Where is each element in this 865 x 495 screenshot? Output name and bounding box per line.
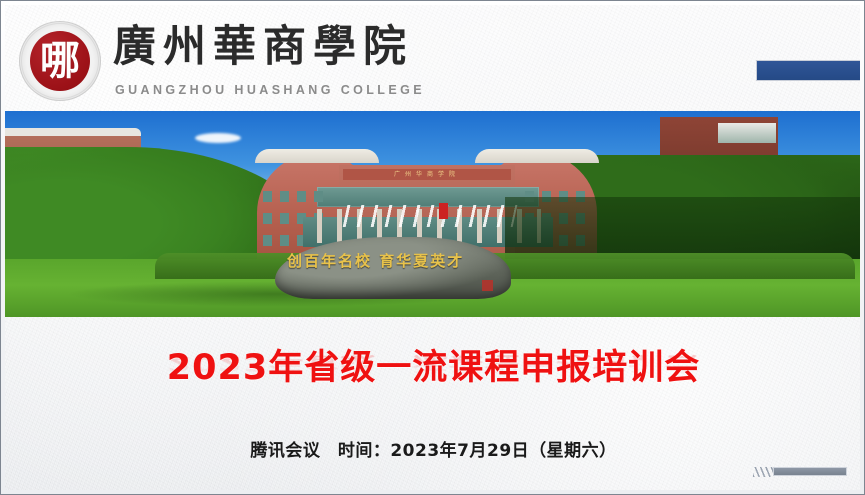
logo-glyph: 哪: [30, 31, 90, 91]
drum-cap-left: [255, 149, 379, 163]
building-sign-band: 广州华商学院: [343, 169, 511, 180]
red-flag-icon: [439, 203, 448, 219]
cloud-icon: [195, 133, 241, 143]
header-accent-bar: [756, 60, 860, 81]
building-sign-text: 广州华商学院: [343, 169, 511, 180]
drum-cap-right: [475, 149, 599, 163]
footer-accent: [753, 466, 853, 478]
institution-name-cn: 廣州華商學院: [113, 25, 413, 70]
monument-inscription: 创百年名校 育华夏英才: [287, 250, 499, 271]
slash-marks-icon: [753, 467, 773, 477]
slide-subtitle: 腾讯会议 时间：2023年7月29日（星期六）: [5, 436, 860, 461]
college-logo-icon: 哪: [19, 21, 101, 101]
right-building-glass: [718, 123, 776, 143]
monument-seal-icon: [482, 280, 493, 291]
flag-row: [343, 205, 518, 227]
left-building-roof: [5, 128, 141, 136]
slide-title: 2023年省级一流课程申报培训会: [5, 339, 860, 390]
institution-name-en: GUANGZHOU HUASHANG COLLEGE: [115, 83, 425, 97]
campus-photo: 广州华商学院 创百年名校 育华夏英才: [5, 111, 860, 317]
slide-canvas: 哪 廣州華商學院 GUANGZHOU HUASHANG COLLEGE: [5, 5, 860, 490]
window-row-left: [263, 191, 329, 202]
footer-accent-bar: [773, 467, 847, 476]
slide-header: 哪 廣州華商學院 GUANGZHOU HUASHANG COLLEGE: [5, 5, 860, 111]
presentation-slide: 哪 廣州華商學院 GUANGZHOU HUASHANG COLLEGE: [0, 0, 865, 495]
